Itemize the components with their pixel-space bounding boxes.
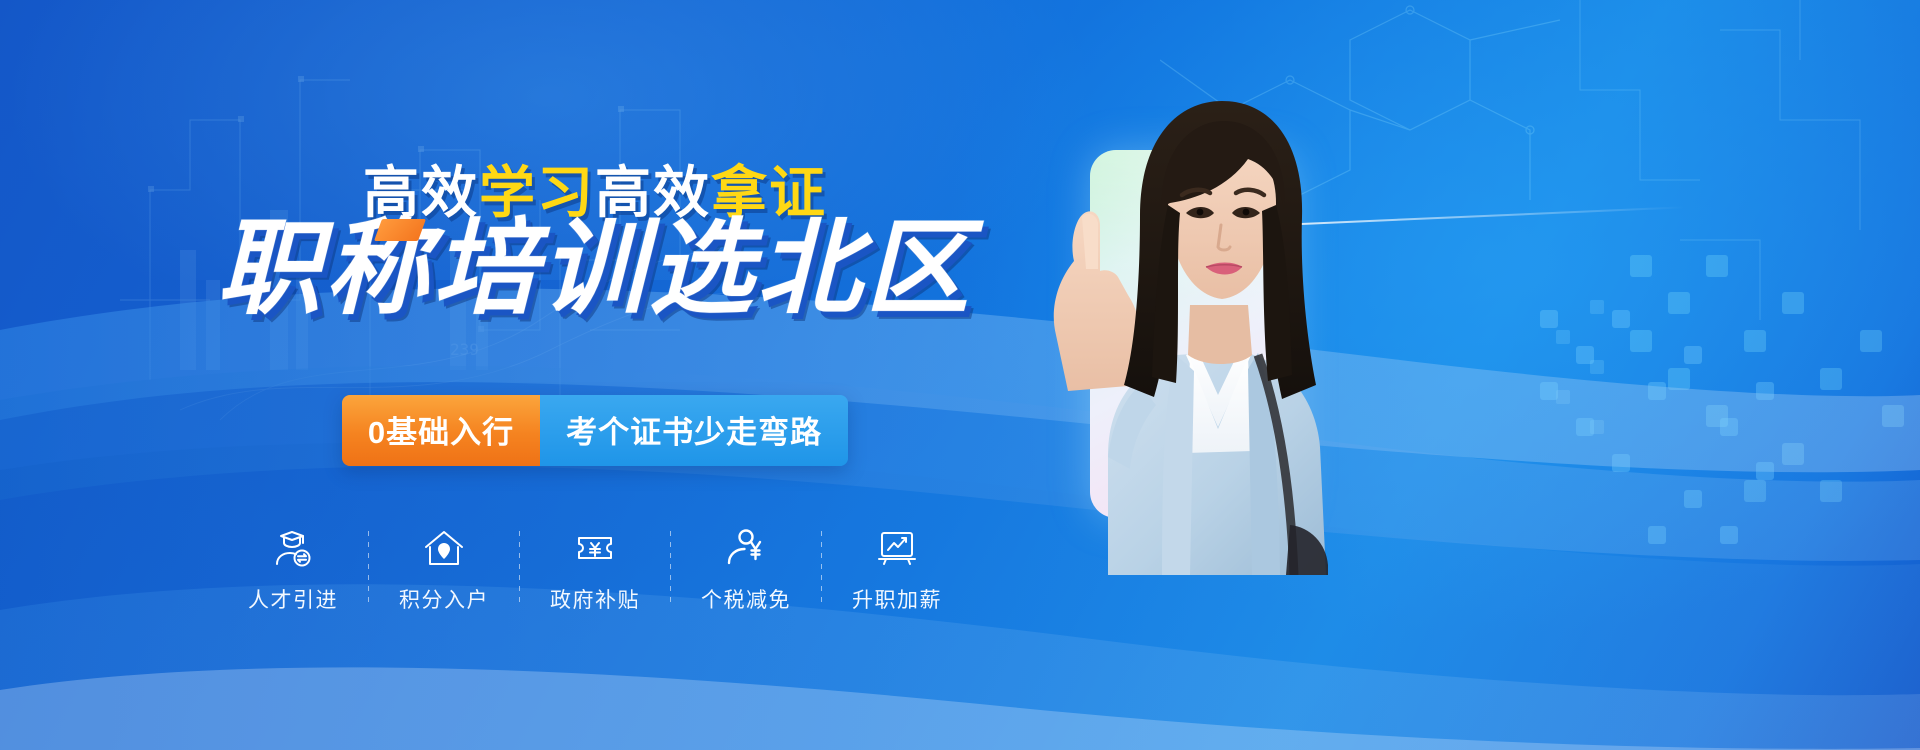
graduate-exchange-icon bbox=[226, 525, 360, 571]
feature-divider bbox=[368, 531, 369, 603]
tag-zero-basis[interactable]: 0基础入行 bbox=[342, 395, 540, 466]
ticket-yuan-icon bbox=[528, 525, 662, 571]
feature-item-promotion[interactable]: 升职加薪 bbox=[830, 525, 964, 614]
feature-label: 升职加薪 bbox=[830, 584, 964, 614]
feature-label: 政府补贴 bbox=[528, 584, 662, 614]
promo-banner: 239 bbox=[0, 0, 1920, 750]
tag-bar: 0基础入行 考个证书少走弯路 bbox=[0, 395, 1190, 466]
feature-label: 个税减免 bbox=[679, 584, 813, 614]
banner-title: 职称培训选北区 bbox=[217, 215, 973, 324]
person-yuan-icon bbox=[679, 525, 813, 571]
tag-shortcut[interactable]: 考个证书少走弯路 bbox=[540, 395, 848, 466]
feature-divider bbox=[821, 531, 822, 603]
title-accent-mark bbox=[374, 219, 426, 241]
feature-label: 积分入户 bbox=[377, 584, 511, 614]
feature-item-subsidy[interactable]: 政府补贴 bbox=[528, 525, 662, 614]
feature-list: 人才引进 积分入户 bbox=[0, 525, 1190, 614]
tag-bar-inner: 0基础入行 考个证书少走弯路 bbox=[342, 395, 848, 466]
banner-content: 高效学习高效拿证 职称培训选北区 0基础入行 考个证书少走弯路 bbox=[0, 0, 1190, 750]
feature-divider bbox=[670, 531, 671, 603]
feature-item-tax[interactable]: 个税减免 bbox=[679, 525, 813, 614]
feature-label: 人才引进 bbox=[226, 584, 360, 614]
chart-board-icon bbox=[830, 525, 964, 571]
banner-title-wrap: 职称培训选北区 bbox=[0, 215, 1190, 324]
house-pin-icon bbox=[377, 525, 511, 571]
feature-item-talent[interactable]: 人才引进 bbox=[226, 525, 360, 614]
feature-item-residency[interactable]: 积分入户 bbox=[377, 525, 511, 614]
feature-divider bbox=[519, 531, 520, 603]
